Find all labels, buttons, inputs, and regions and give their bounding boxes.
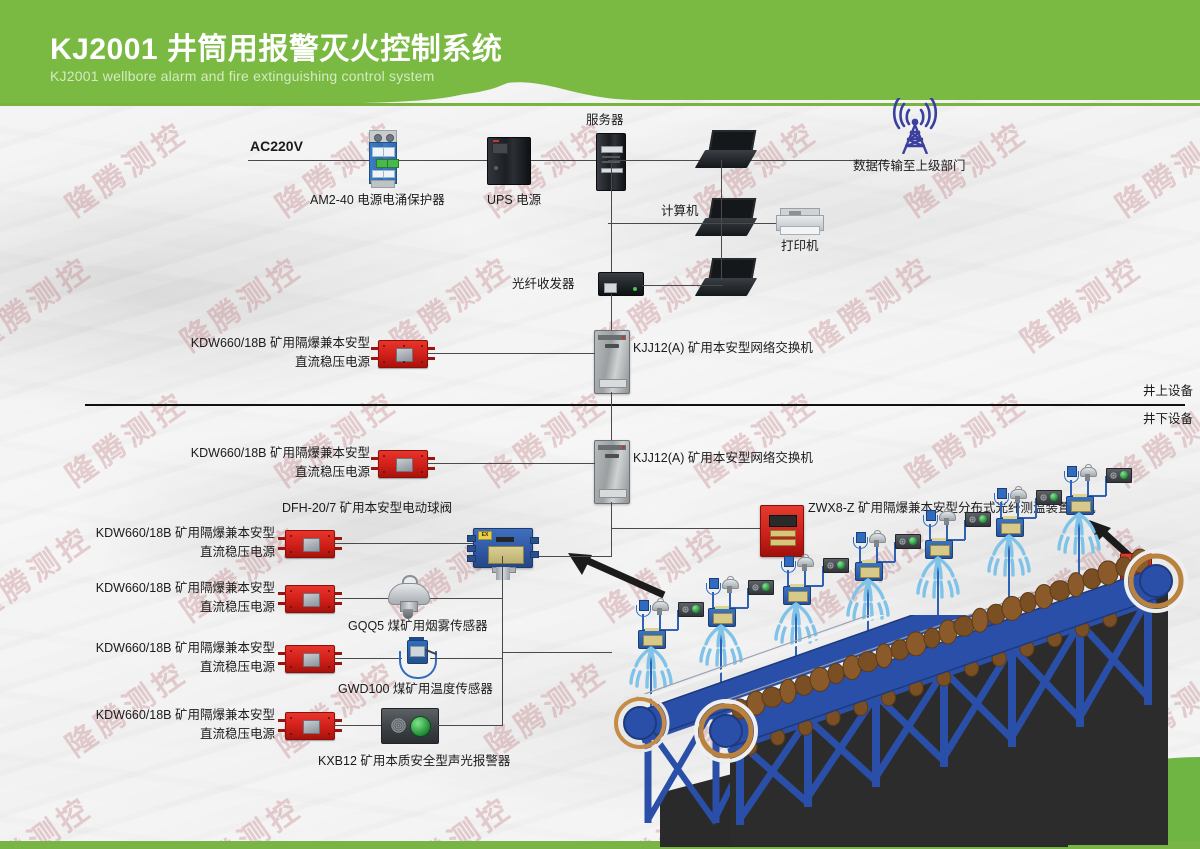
- coal-lump: [1002, 596, 1022, 620]
- surge-protector-device: [365, 130, 399, 188]
- coal-lump: [780, 679, 796, 703]
- wire-smoke-to-bus: [430, 598, 503, 599]
- wire-converter-to-computer: [642, 285, 702, 286]
- cluster-smoke-sensor-icon: [1080, 464, 1095, 481]
- coal-lump: [762, 687, 782, 707]
- label-surge-protector: AM2-40 电源电涌保护器: [310, 192, 445, 209]
- label-below-ground: 井下设备: [1143, 411, 1193, 428]
- label-psu-underground-5: KDW660/18B 矿用隔爆兼本安型 直流稳压电源: [75, 706, 275, 744]
- wire-temp-to-bus: [430, 658, 503, 659]
- wire-computer-stack: [721, 160, 722, 280]
- label-psu-underground-1: KDW660/18B 矿用隔爆兼本安型 直流稳压电源: [170, 444, 370, 482]
- power-supply-underground-3: [285, 585, 335, 613]
- cluster-smoke-sensor-icon: [939, 508, 954, 525]
- coal-lump: [876, 644, 892, 668]
- computer-device-3: [700, 258, 752, 298]
- coal-lump: [1098, 561, 1118, 585]
- coal-lump: [906, 632, 926, 656]
- label-psu-underground-2: KDW660/18B 矿用隔爆兼本安型 直流稳压电源: [75, 524, 275, 562]
- label-computer: 计算机: [661, 203, 699, 220]
- sound-light-alarm-device: [381, 708, 439, 744]
- wire-to-printer: [721, 223, 777, 224]
- label-fiber-converter: 光纤收发器: [512, 276, 575, 293]
- label-uplink: 数据传输至上级部门: [853, 158, 966, 175]
- label-temp-sensor: GWD100 煤矿用温度传感器: [338, 681, 493, 698]
- coal-lump: [1050, 581, 1070, 601]
- electric-ball-valve-device: EX: [473, 528, 533, 568]
- smoke-sensor-device: [386, 575, 430, 621]
- computer-device-2: [700, 198, 752, 238]
- power-supply-surface: [378, 340, 428, 368]
- wire-psu-u1-to-switch: [427, 463, 595, 464]
- conveyor-assembly: [600, 525, 1200, 849]
- label-smoke-sensor: GQQ5 煤矿用烟雾传感器: [348, 618, 488, 635]
- antenna-tower-icon: [885, 98, 945, 154]
- surface-underground-divider: [85, 404, 1185, 406]
- label-sound-light-alarm: KXB12 矿用本质安全型声光报警器: [318, 753, 510, 770]
- cluster-smoke-sensor-icon: [1010, 486, 1025, 503]
- coal-lump: [1020, 592, 1036, 612]
- label-switch-underground: KJJ12(A) 矿用本安型网络交换机: [633, 450, 813, 467]
- power-supply-underground-5: [285, 712, 335, 740]
- wire-valve-trunk: [502, 652, 612, 653]
- coal-lump: [858, 652, 878, 672]
- label-server: 服务器: [586, 112, 624, 129]
- power-supply-underground-1: [378, 450, 428, 478]
- coal-lump: [810, 667, 830, 691]
- label-ac220v: AC220V: [250, 138, 303, 155]
- cluster-wire-smoke: [1087, 480, 1089, 496]
- wire-psu-u5-to-alarm: [334, 725, 383, 726]
- label-psu-underground-3: KDW660/18B 矿用隔爆兼本安型 直流稳压电源: [75, 579, 275, 617]
- cluster-junction-box: [1066, 496, 1094, 515]
- fiber-converter-device: [598, 272, 644, 296]
- label-psu-underground-4: KDW660/18B 矿用隔爆兼本安型 直流稳压电源: [75, 639, 275, 677]
- printer-device: [776, 208, 822, 236]
- diagram-layer: 井上设备 井下设备 AC220V AM2-40 电源电涌保护器 UPS 电源: [0, 0, 1200, 849]
- wire-sensor-bus: [502, 556, 503, 726]
- label-above-ground: 井上设备: [1143, 383, 1193, 400]
- coal-lump: [954, 616, 974, 636]
- cluster-wire-smoke: [1017, 502, 1019, 518]
- power-supply-underground-2: [285, 530, 335, 558]
- coal-lump: [828, 663, 844, 683]
- cluster-temp-sensor-icon: [994, 488, 1007, 504]
- cluster-temp-sensor-icon: [1064, 466, 1077, 482]
- computer-device-1: [700, 130, 752, 170]
- network-switch-surface: [594, 330, 630, 394]
- ups-device: [487, 137, 531, 185]
- label-printer: 打印机: [781, 238, 819, 255]
- label-psu-surface: KDW660/18B 矿用隔爆兼本安型 直流稳压电源: [170, 334, 370, 372]
- coal-lump: [1068, 573, 1084, 597]
- wire-ac-bus: [248, 160, 608, 161]
- label-switch-surface: KJJ12(A) 矿用本安型网络交换机: [633, 340, 813, 357]
- label-ups: UPS 电源: [487, 192, 541, 209]
- power-supply-underground-4: [285, 645, 335, 673]
- cluster-alarm-icon: [1106, 468, 1132, 483]
- wire-converter-to-switch: [611, 294, 612, 334]
- wire-psu-u4-to-temp: [334, 658, 402, 659]
- diagram-page: 隆腾测控隆腾测控隆腾测控隆腾测控隆腾测控隆腾测控隆腾测控隆腾测控隆腾测控隆腾测控…: [0, 0, 1200, 849]
- temperature-sensor-device: [396, 637, 436, 681]
- wire-computer-row-2: [608, 223, 723, 224]
- label-ball-valve: DFH-20/7 矿用本安型电动球阀: [282, 500, 452, 517]
- coal-lump: [972, 608, 988, 632]
- coal-lump: [924, 628, 940, 648]
- network-switch-underground: [594, 440, 630, 504]
- wire-alarm-to-bus: [437, 725, 503, 726]
- wire-psu-u2-to-valve: [334, 543, 473, 544]
- cluster-temp-sensor-icon: [923, 510, 936, 526]
- wire-psu-surface-to-switch: [427, 353, 595, 354]
